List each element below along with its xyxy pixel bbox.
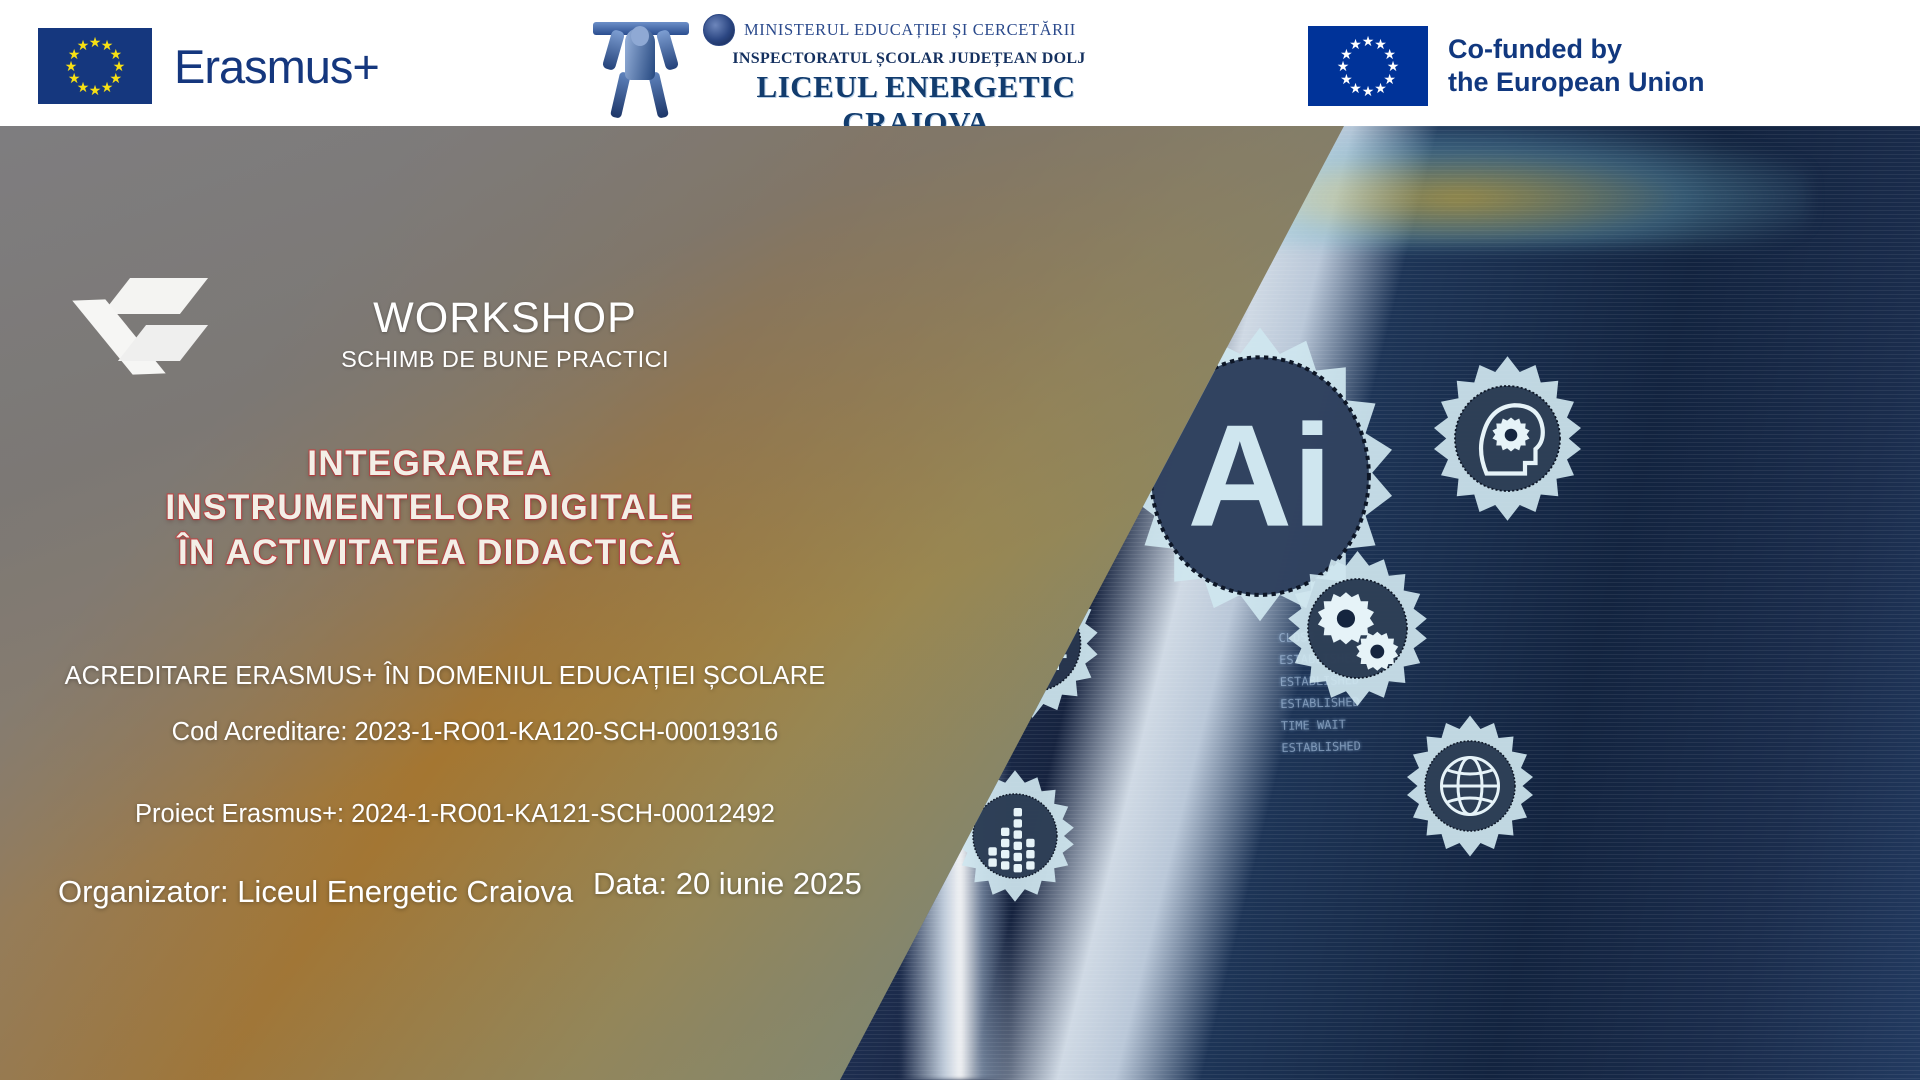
head-gears-gear xyxy=(1420,351,1595,526)
eu-flag-icon: ★★★★★★★★★★★★ xyxy=(38,28,152,104)
headline-line-3: ÎN ACTIVITATEA DIDACTICĂ xyxy=(60,531,800,575)
cofunded-eu-logo: ★★★★★★★★★★★★ Co-funded by the European U… xyxy=(1308,26,1705,106)
eu-flag-icon-2: ★★★★★★★★★★★★ xyxy=(1308,26,1428,106)
cofunded-line-1: Co-funded by xyxy=(1448,33,1705,66)
school-mascot-icon xyxy=(585,6,697,120)
eu-star: ★ xyxy=(1374,81,1388,95)
svg-text:Ai: Ai xyxy=(1187,395,1332,557)
cofunded-text: Co-funded by the European Union xyxy=(1448,33,1705,99)
slide-body: nalr:5454 nalr:50300 nalr:49771 nalr:497… xyxy=(0,126,1920,1080)
workshop-subtitle: SCHIMB DE BUNE PRACTICI xyxy=(290,346,720,373)
headline-line-2: INSTRUMENTELOR DIGITALE xyxy=(60,486,800,530)
romania-coat-of-arms-icon xyxy=(703,14,735,46)
main-headline: INTEGRAREA INSTRUMENTELOR DIGITALE ÎN AC… xyxy=(60,442,800,575)
eu-star: ★ xyxy=(76,38,90,52)
cogs-gear xyxy=(1275,546,1440,711)
organizer-label: Organizator: Liceul Energetic Craiova xyxy=(58,874,573,910)
accreditation-code: Cod Acreditare: 2023-1-RO01-KA120-SCH-00… xyxy=(60,718,890,747)
date-label: Data: 20 iunie 2025 xyxy=(593,866,862,902)
eu-star: ★ xyxy=(88,83,102,97)
cofunded-line-2: the European Union xyxy=(1448,66,1705,99)
eu-star: ★ xyxy=(1349,37,1363,51)
accreditation-label: ACREDITARE ERASMUS+ ÎN DOMENIUL EDUCAȚIE… xyxy=(30,662,860,691)
ministry-label: MINISTERUL EDUCAȚIEI ȘI CERCETĂRII xyxy=(744,20,1076,40)
ministry-row: MINISTERUL EDUCAȚIEI ȘI CERCETĂRII xyxy=(703,14,1105,46)
eu-star: ★ xyxy=(1361,84,1375,98)
eu-star: ★ xyxy=(100,80,114,94)
erasmus-wordmark: Erasmus+ xyxy=(174,39,379,94)
project-code: Proiect Erasmus+: 2024-1-RO01-KA121-SCH-… xyxy=(40,800,870,829)
logo-header-band: ★★★★★★★★★★★★ Erasmus+ MINISTERUL EDUCAȚI… xyxy=(0,0,1920,126)
headline-line-1: INTEGRAREA xyxy=(60,442,800,486)
erasmus-plus-logo: ★★★★★★★★★★★★ Erasmus+ xyxy=(38,28,379,104)
workshop-title: WORKSHOP xyxy=(290,294,720,343)
liceul-energetic-craiova-logo: MINISTERUL EDUCAȚIEI ȘI CERCETĂRII INSPE… xyxy=(585,6,1105,120)
flutter-logo xyxy=(104,278,200,388)
inspectorate-label: INSPECTORATUL ȘCOLAR JUDEȚEAN DOLJ xyxy=(703,50,1105,68)
globe-gear xyxy=(1395,711,1545,861)
